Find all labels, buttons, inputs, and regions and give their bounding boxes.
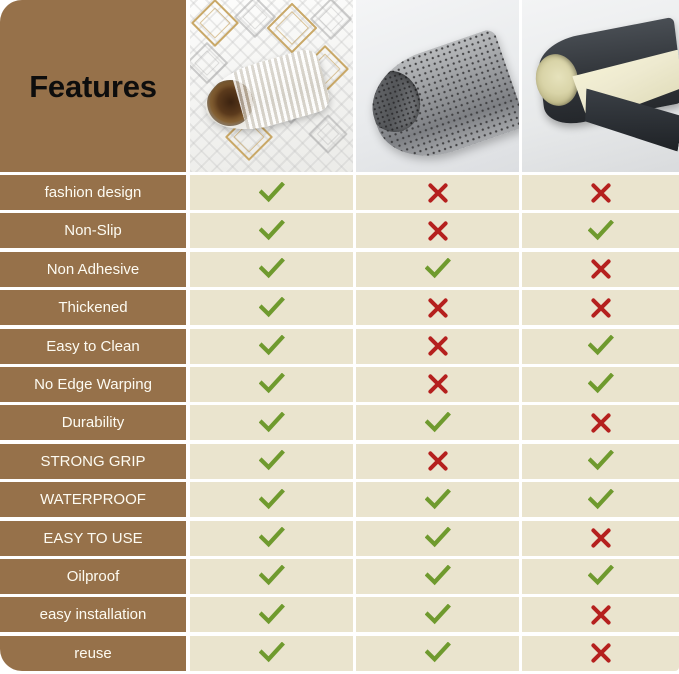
feature-label: Thickened (58, 300, 127, 315)
feature-label: Durability (62, 415, 125, 430)
value-cell (356, 636, 519, 671)
check-icon (425, 489, 451, 511)
features-title-cell: Features (0, 0, 186, 172)
cross-icon (427, 182, 449, 204)
feature-label-cell: easy installation (0, 597, 186, 632)
feature-label: easy installation (40, 607, 147, 622)
value-cell (190, 405, 353, 440)
feature-label-cell: No Edge Warping (0, 367, 186, 402)
value-cell (356, 329, 519, 364)
check-icon (588, 489, 614, 511)
check-icon (588, 450, 614, 472)
value-cell (522, 482, 679, 517)
cross-icon (590, 412, 612, 434)
check-icon (259, 642, 285, 664)
feature-label-cell: Durability (0, 405, 186, 440)
cross-icon (427, 450, 449, 472)
check-icon (425, 412, 451, 434)
value-cell (190, 444, 353, 479)
check-icon (259, 335, 285, 357)
cross-icon (427, 297, 449, 319)
product-image-1 (190, 0, 353, 172)
cross-icon (590, 258, 612, 280)
value-cell (190, 482, 353, 517)
value-cell (356, 213, 519, 248)
feature-label: Non Adhesive (47, 262, 140, 277)
value-cell (190, 367, 353, 402)
features-comparison-chart: Features (0, 0, 679, 674)
check-icon (259, 604, 285, 626)
check-icon (425, 604, 451, 626)
cross-icon (590, 604, 612, 626)
value-cell (356, 444, 519, 479)
check-icon (259, 489, 285, 511)
chart-header-row: Features (0, 0, 679, 172)
check-icon (259, 373, 285, 395)
value-cell (190, 559, 353, 594)
check-icon (259, 297, 285, 319)
feature-label: No Edge Warping (34, 377, 152, 392)
feature-label: WATERPROOF (40, 492, 146, 507)
comparison-rows: fashion designNon-SlipNon AdhesiveThicke… (0, 175, 679, 674)
check-icon (425, 527, 451, 549)
value-cell (522, 367, 679, 402)
check-icon (259, 220, 285, 242)
value-cell (522, 252, 679, 287)
table-row: reuse (0, 636, 679, 674)
cross-icon (427, 220, 449, 242)
feature-label: Oilproof (67, 569, 120, 584)
value-cell (190, 213, 353, 248)
value-cell (190, 252, 353, 287)
value-cell (190, 636, 353, 671)
value-cell (356, 252, 519, 287)
table-row: No Edge Warping (0, 367, 679, 405)
value-cell (356, 597, 519, 632)
feature-label: fashion design (45, 185, 142, 200)
product-image-2 (356, 0, 519, 172)
check-icon (259, 450, 285, 472)
mesh-liner-background (356, 0, 519, 172)
check-icon (259, 412, 285, 434)
check-icon (259, 182, 285, 204)
feature-label-cell: Non-Slip (0, 213, 186, 248)
feature-label: Non-Slip (64, 223, 122, 238)
value-cell (190, 290, 353, 325)
cross-icon (427, 373, 449, 395)
check-icon (259, 258, 285, 280)
value-cell (522, 213, 679, 248)
value-cell (356, 521, 519, 556)
table-row: Non-Slip (0, 213, 679, 251)
value-cell (356, 290, 519, 325)
patterned-mat-background (190, 0, 353, 172)
value-cell (522, 329, 679, 364)
table-row: STRONG GRIP (0, 444, 679, 482)
check-icon (259, 527, 285, 549)
cross-icon (590, 297, 612, 319)
check-icon (425, 565, 451, 587)
cross-icon (590, 527, 612, 549)
table-row: Oilproof (0, 559, 679, 597)
value-cell (522, 597, 679, 632)
check-icon (588, 373, 614, 395)
mesh-roll-shape (359, 28, 519, 172)
value-cell (190, 597, 353, 632)
value-cell (522, 444, 679, 479)
table-row: WATERPROOF (0, 482, 679, 520)
table-row: Durability (0, 405, 679, 443)
check-icon (588, 565, 614, 587)
value-cell (356, 482, 519, 517)
product-image-3 (522, 0, 679, 172)
check-icon (425, 642, 451, 664)
value-cell (356, 175, 519, 210)
table-row: easy installation (0, 597, 679, 635)
table-row: Easy to Clean (0, 329, 679, 367)
feature-label-cell: WATERPROOF (0, 482, 186, 517)
feature-label: STRONG GRIP (40, 454, 145, 469)
value-cell (522, 405, 679, 440)
value-cell (190, 175, 353, 210)
value-cell (522, 521, 679, 556)
check-icon (588, 335, 614, 357)
feature-label-cell: fashion design (0, 175, 186, 210)
value-cell (356, 405, 519, 440)
cross-icon (590, 182, 612, 204)
table-row: Thickened (0, 290, 679, 328)
cross-icon (427, 335, 449, 357)
feature-label-cell: STRONG GRIP (0, 444, 186, 479)
value-cell (522, 636, 679, 671)
cross-icon (590, 642, 612, 664)
table-row: fashion design (0, 175, 679, 213)
feature-label-cell: Easy to Clean (0, 329, 186, 364)
feature-label-cell: Thickened (0, 290, 186, 325)
check-icon (259, 565, 285, 587)
table-row: EASY TO USE (0, 521, 679, 559)
value-cell (522, 559, 679, 594)
feature-label-cell: reuse (0, 636, 186, 671)
page-title: Features (29, 71, 157, 102)
feature-label-cell: EASY TO USE (0, 521, 186, 556)
check-icon (588, 220, 614, 242)
feature-label: reuse (74, 646, 112, 661)
value-cell (190, 329, 353, 364)
table-row: Non Adhesive (0, 252, 679, 290)
feature-label: Easy to Clean (46, 339, 139, 354)
value-cell (356, 367, 519, 402)
pvc-mat-background (522, 0, 679, 172)
value-cell (356, 559, 519, 594)
feature-label: EASY TO USE (43, 531, 142, 546)
feature-label-cell: Non Adhesive (0, 252, 186, 287)
check-icon (425, 258, 451, 280)
value-cell (190, 521, 353, 556)
value-cell (522, 175, 679, 210)
value-cell (522, 290, 679, 325)
feature-label-cell: Oilproof (0, 559, 186, 594)
